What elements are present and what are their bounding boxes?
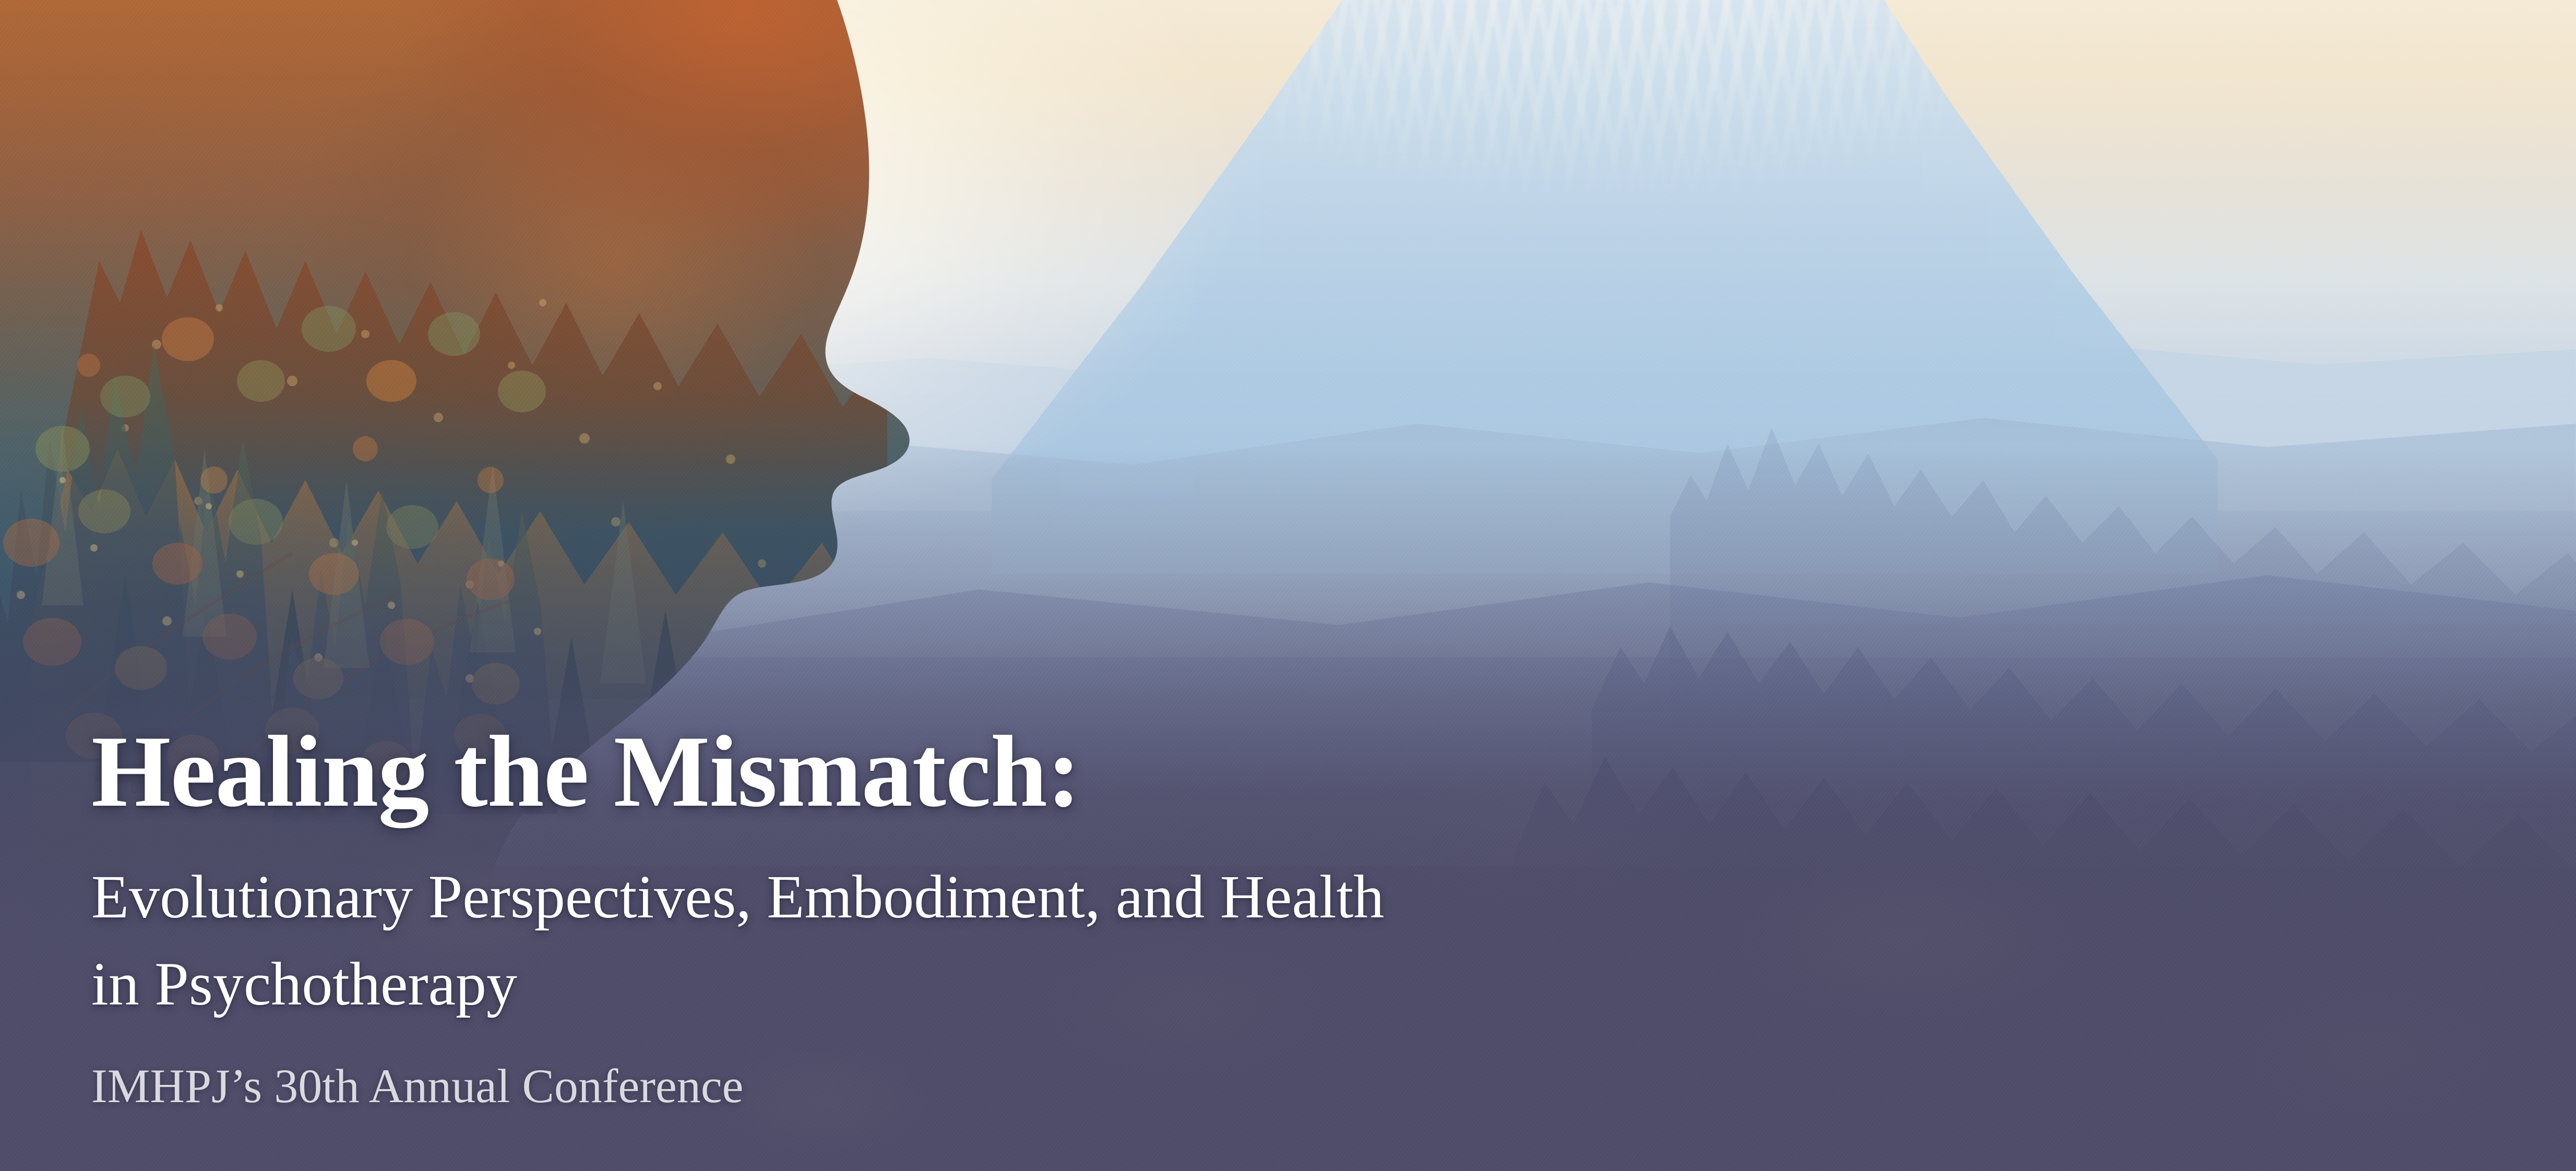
banner-subtitle: Evolutionary Perspectives, Embodiment, a… (91, 853, 2205, 1028)
banner-subtitle-line-1: Evolutionary Perspectives, Embodiment, a… (91, 853, 2205, 941)
conference-banner: Healing the Mismatch: Evolutionary Persp… (0, 0, 2576, 1171)
banner-copy: Healing the Mismatch: Evolutionary Persp… (91, 721, 2283, 1171)
conference-edition-label: IMHPJ’s 30th Annual Conference (91, 1057, 2283, 1171)
banner-subtitle-line-2: in Psychotherapy (91, 940, 2205, 1028)
autumn-leaves-cluster (0, 157, 569, 783)
page-title: Healing the Mismatch: (91, 721, 2283, 823)
